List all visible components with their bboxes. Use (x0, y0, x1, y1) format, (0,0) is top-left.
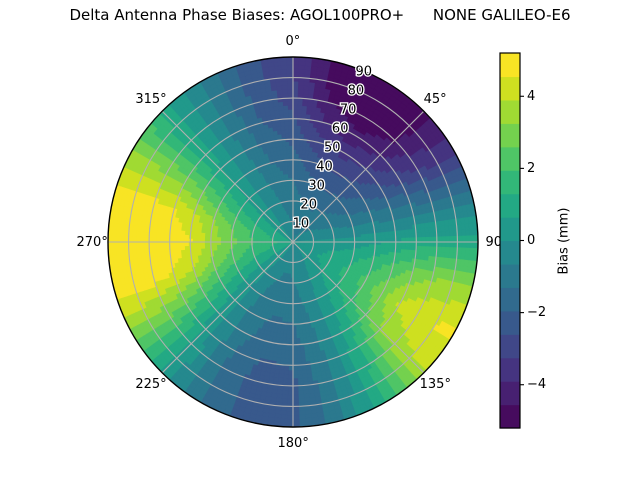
radial-tick-label: 90 (356, 65, 373, 80)
radial-tick-label: 20 (300, 198, 317, 213)
angular-tick-label-90: 90 (486, 235, 503, 250)
radial-tick-label: 10 (293, 217, 310, 232)
colorbar-tick-label: −4 (527, 377, 546, 392)
angular-tick-label-225: 225° (135, 377, 166, 392)
radial-tick-label: 70 (340, 103, 357, 118)
angular-tick-label-180: 180° (278, 436, 309, 451)
angular-tick-label-45: 45° (424, 92, 447, 107)
radial-tick-label: 40 (316, 160, 333, 175)
polar-grid (108, 57, 478, 427)
radial-tick-label: 80 (348, 84, 365, 99)
radial-tick-label: 50 (324, 141, 341, 156)
figure-canvas: Delta Antenna Phase Biases: AGOL100PRO+ … (0, 0, 640, 480)
colorbar-tick-label: 2 (527, 161, 535, 176)
angular-tick-label-315: 315° (135, 92, 166, 107)
colorbar-tick-label: −2 (527, 305, 546, 320)
colorbar-axis-title: Bias (mm) (557, 207, 572, 274)
radial-tick-label: 60 (332, 122, 349, 137)
angular-tick-label-135: 135° (420, 377, 451, 392)
colorbar-tick-label: 0 (527, 233, 535, 248)
radial-tick-label: 30 (308, 179, 325, 194)
angular-tick-label-0: 0° (286, 34, 301, 49)
angular-tick-label-270: 270° (77, 235, 108, 250)
colorbar-tick-label: 4 (527, 89, 535, 104)
